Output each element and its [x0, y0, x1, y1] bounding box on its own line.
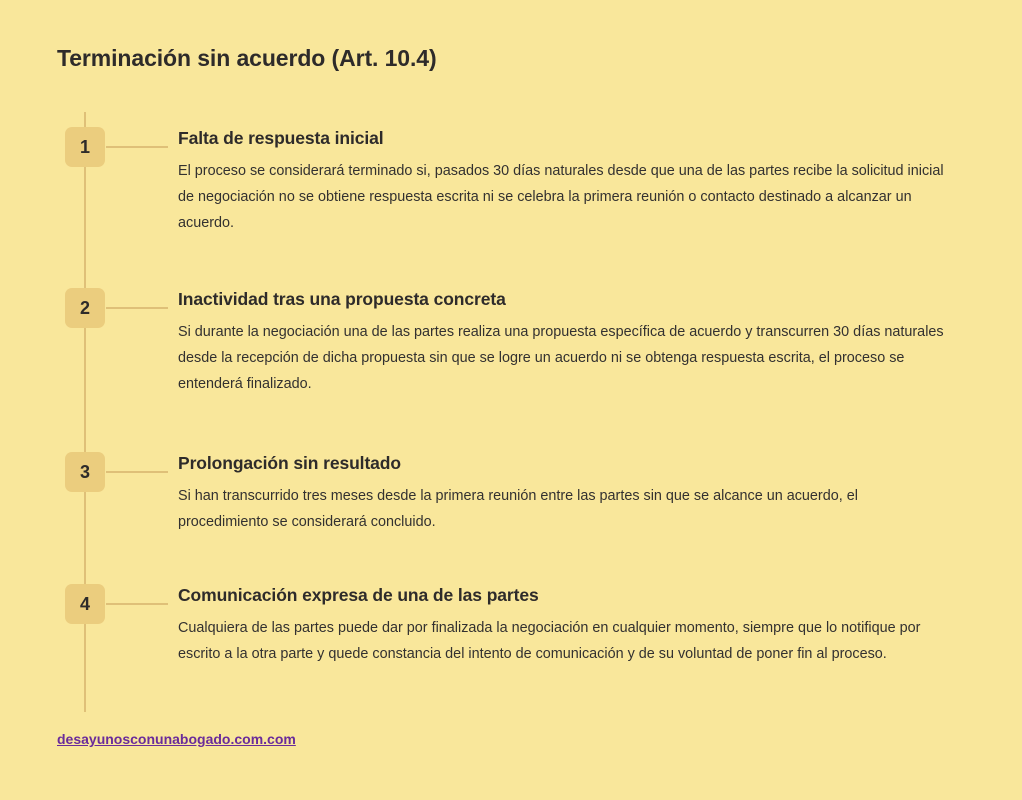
timeline-connector-line [106, 471, 168, 473]
timeline-item-text: Si han transcurrido tres meses desde la … [178, 483, 938, 535]
timeline-step-number-badge: 4 [65, 584, 105, 624]
timeline-item-heading: Inactividad tras una propuesta concreta [178, 288, 966, 310]
timeline-item-body: Inactividad tras una propuesta concreta … [178, 288, 966, 397]
timeline-item-text: El proceso se considerará terminado si, … [178, 158, 962, 236]
timeline-list: 1 Falta de respuesta inicial El proceso … [0, 0, 1022, 800]
infographic-page: Terminación sin acuerdo (Art. 10.4) 1 Fa… [0, 0, 1022, 800]
timeline-item-heading: Falta de respuesta inicial [178, 127, 966, 149]
timeline-item-body: Falta de respuesta inicial El proceso se… [178, 127, 966, 236]
timeline-step-number-badge: 1 [65, 127, 105, 167]
timeline-item-text: Si durante la negociación una de las par… [178, 319, 956, 397]
timeline-connector-line [106, 603, 168, 605]
footer-website-link[interactable]: desayunosconunabogado.com.com [57, 731, 296, 747]
timeline-item-body: Comunicación expresa de una de las parte… [178, 584, 966, 667]
timeline-item-heading: Prolongación sin resultado [178, 452, 966, 474]
timeline-step-number-badge: 3 [65, 452, 105, 492]
timeline-connector-line [106, 307, 168, 309]
timeline-item-text: Cualquiera de las partes puede dar por f… [178, 615, 953, 667]
timeline-connector-line [106, 146, 168, 148]
timeline-item-heading: Comunicación expresa de una de las parte… [178, 584, 966, 606]
timeline-step-number-badge: 2 [65, 288, 105, 328]
timeline-item-body: Prolongación sin resultado Si han transc… [178, 452, 966, 535]
